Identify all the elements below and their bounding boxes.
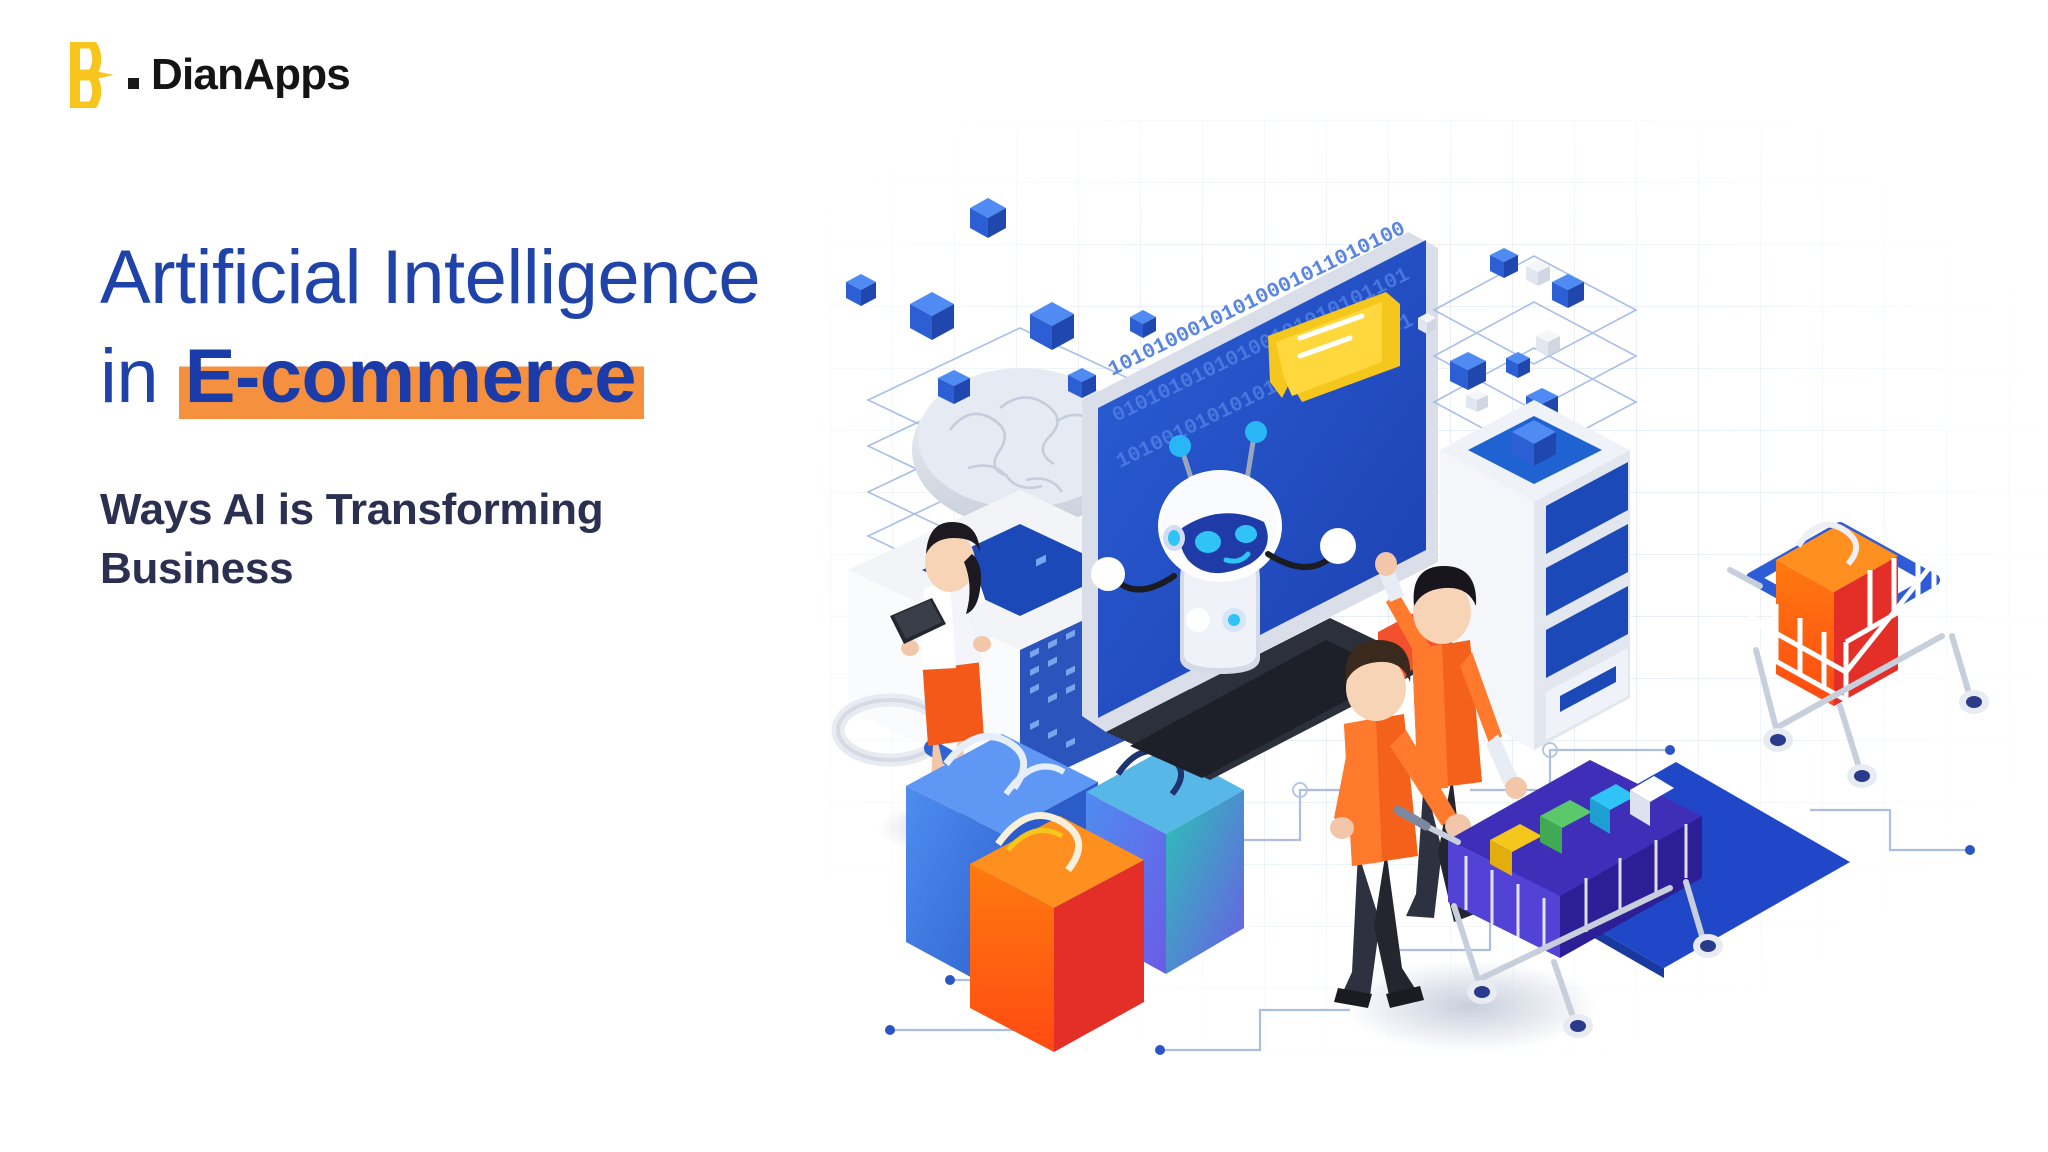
page-title: Artificial Intelligence in E-commerce (100, 232, 800, 423)
headline-line-1: Artificial Intelligence (100, 235, 760, 320)
brand-wordmark: DianApps (151, 53, 350, 97)
shopping-bags (906, 734, 1244, 1052)
logo-dot-icon (128, 78, 139, 89)
headline-line-2: in E-commerce (100, 331, 800, 424)
shopping-cart-right (1730, 524, 1989, 788)
headline-highlight: E-commerce (179, 334, 644, 419)
cart-right-wheels (1763, 690, 1989, 788)
headline-prefix: in (100, 334, 179, 419)
brand-logo[interactable]: DianApps (70, 42, 350, 108)
page-subtitle: Ways AI is Transforming Business (100, 481, 660, 597)
dianapps-d-logo-icon (70, 42, 122, 108)
hero-illustration: AI (830, 150, 2048, 1070)
page-canvas: DianApps Artificial Intelligence in E-co… (0, 0, 2048, 1152)
subtitle-line-2: Business (100, 544, 293, 593)
subtitle-line-1: Ways AI is Transforming (100, 485, 603, 534)
shopping-bag-orange (970, 816, 1144, 1052)
hero-text-column: Artificial Intelligence in E-commerce Wa… (100, 232, 800, 598)
